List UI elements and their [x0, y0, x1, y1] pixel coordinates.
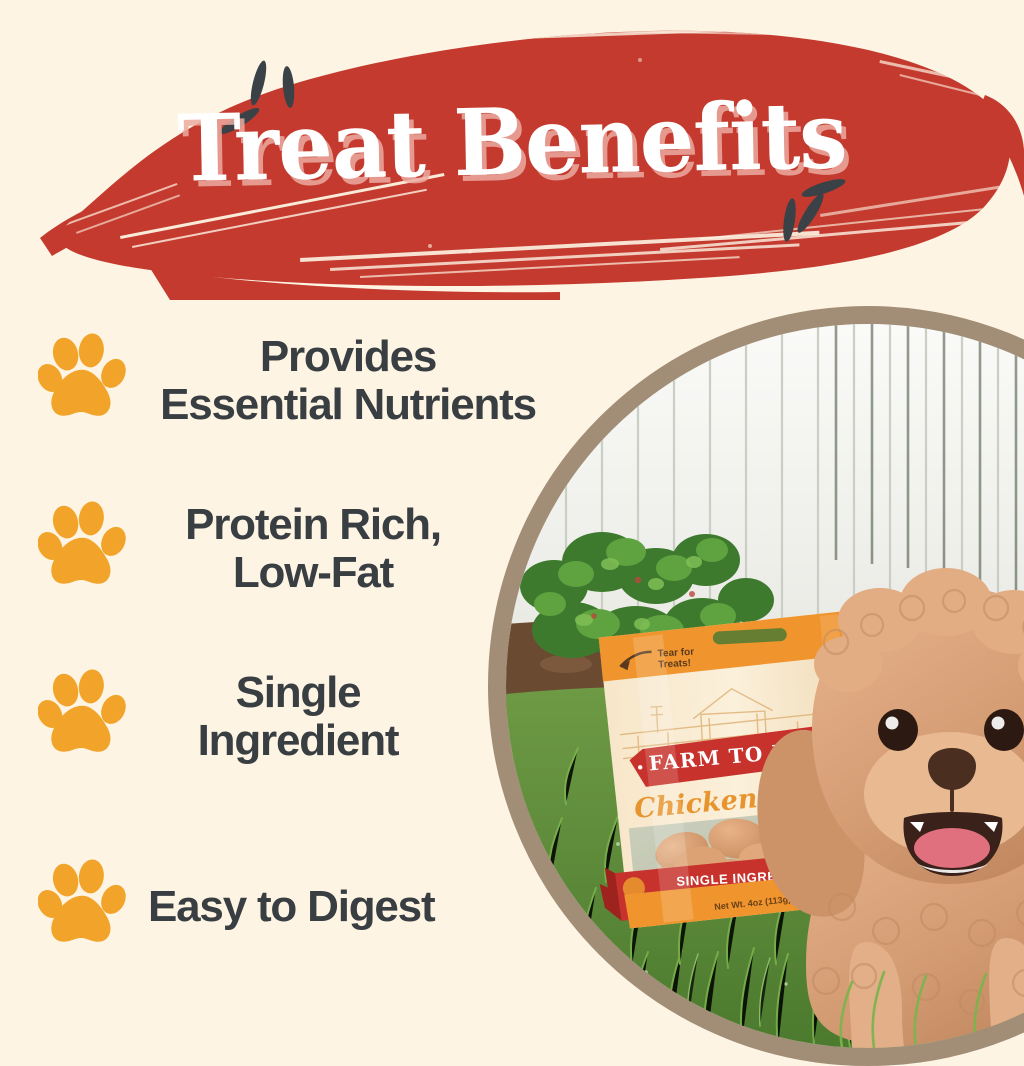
paw-print-icon [38, 668, 130, 765]
benefit-label: Easy to Digest [148, 883, 528, 931]
photo-scene: Tear for Treats! FARM TO PET [506, 324, 1024, 1048]
header-banner: Treat Benefits [0, 0, 1024, 300]
paw-print-icon [38, 332, 130, 429]
page-title: Treat Benefits [35, 86, 989, 198]
product-photo-circle: Tear for Treats! FARM TO PET [488, 306, 1024, 1066]
benefit-label: Single Ingredient [148, 669, 448, 764]
benefit-label: Protein Rich, Low-Fat [148, 501, 478, 596]
benefit-item-protein-rich-low-fat: Protein Rich, Low-Fat [38, 500, 478, 597]
product-photo: Tear for Treats! FARM TO PET [506, 324, 1024, 1048]
paw-print-icon [38, 858, 130, 955]
benefit-item-single-ingredient: Single Ingredient [38, 668, 448, 765]
benefit-item-easy-to-digest: Easy to Digest [38, 858, 528, 955]
paw-print-icon [38, 500, 130, 597]
benefit-label: Provides Essential Nutrients [148, 333, 548, 428]
